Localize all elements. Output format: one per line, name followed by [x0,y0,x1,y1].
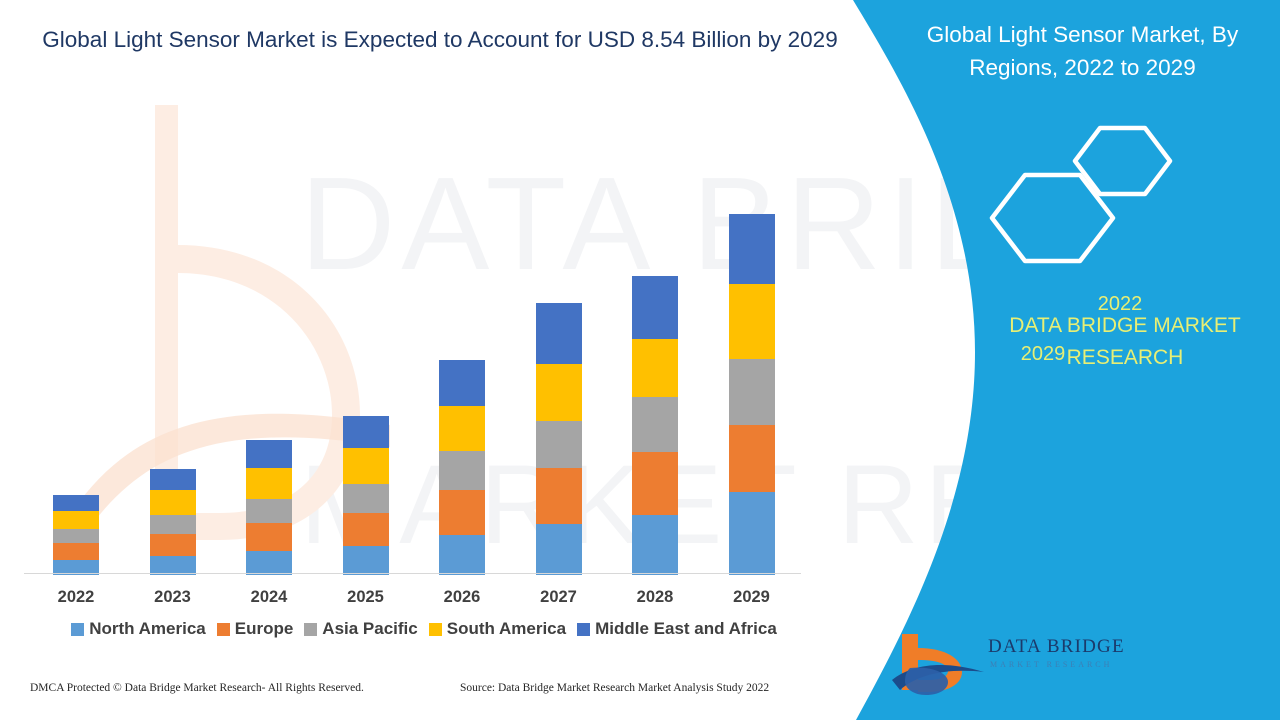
company-logo: DATA BRIDGE MARKET RESEARCH [888,628,1103,698]
x-axis-label-2022: 2022 [30,588,122,607]
bar-segment [632,339,678,397]
bar-column-2026[interactable] [439,360,485,575]
bar-segment [536,421,582,468]
chart-plot-area [24,120,814,575]
bar-column-2022[interactable] [53,495,99,575]
bar-segment [246,499,292,523]
legend-label: North America [89,619,206,639]
bar-column-2027[interactable] [536,303,582,575]
chart-baseline [24,573,801,574]
bar-segment [343,448,389,484]
bar-segment [439,451,485,490]
bar-segment [632,276,678,339]
legend-swatch-icon [429,623,442,636]
legend-item-middle-east-and-africa[interactable]: Middle East and Africa [577,619,777,639]
footer-source-text: Source: Data Bridge Market Research Mark… [460,682,769,694]
bar-segment [729,359,775,425]
bar-segment [729,492,775,575]
bar-segment [53,495,99,511]
bar-segment [729,214,775,284]
page-title: Global Light Sensor Market is Expected t… [30,24,850,56]
legend-swatch-icon [577,623,590,636]
bar-column-2023[interactable] [150,469,196,575]
legend-label: Middle East and Africa [595,619,777,639]
bar-segment [439,406,485,451]
footer-dmca-text: DMCA Protected © Data Bridge Market Rese… [30,682,364,694]
bar-segment [246,440,292,468]
x-axis-label-2023: 2023 [127,588,219,607]
databridge-b-icon [888,628,988,698]
bar-segment [343,546,389,575]
bar-segment [536,303,582,364]
x-axis-label-2028: 2028 [609,588,701,607]
legend-swatch-icon [217,623,230,636]
bar-segment [536,364,582,421]
brand-name: DATA BRIDGE MARKET RESEARCH [975,310,1275,374]
bar-segment [246,523,292,551]
x-axis-label-2025: 2025 [320,588,412,607]
legend-swatch-icon [71,623,84,636]
bar-segment [343,416,389,448]
bar-segment [439,490,485,535]
hexagon-group: 2022 2029 [980,125,1200,305]
bar-segment [53,543,99,560]
bar-segment [632,397,678,452]
legend-label: Europe [235,619,294,639]
bar-segment [246,468,292,499]
bar-column-2029[interactable] [729,214,775,575]
x-axis-label-2029: 2029 [706,588,798,607]
x-axis-label-2024: 2024 [223,588,315,607]
bar-segment [343,484,389,513]
legend-swatch-icon [304,623,317,636]
company-logo-subtext: MARKET RESEARCH [990,660,1120,669]
bar-segment [729,425,775,492]
bar-segment [632,452,678,515]
chart-x-axis: 20222023202420252026202720282029 [24,588,814,614]
legend-label: Asia Pacific [322,619,417,639]
bar-segment [343,513,389,546]
legend-item-north-america[interactable]: North America [71,619,206,639]
bar-column-2028[interactable] [632,276,678,575]
bar-segment [729,284,775,359]
x-axis-label-2026: 2026 [416,588,508,607]
footer: DMCA Protected © Data Bridge Market Rese… [0,682,860,706]
bar-column-2024[interactable] [246,440,292,575]
bar-segment [53,529,99,543]
bar-segment [632,515,678,575]
bar-segment [536,524,582,575]
bar-segment [150,469,196,490]
legend-item-asia-pacific[interactable]: Asia Pacific [304,619,417,639]
bar-column-2025[interactable] [343,416,389,575]
bar-segment [246,551,292,575]
x-axis-label-2027: 2027 [513,588,605,607]
legend-item-europe[interactable]: Europe [217,619,294,639]
bar-segment [53,511,99,529]
bar-segment [150,490,196,515]
legend-label: South America [447,619,566,639]
bar-segment [439,360,485,406]
chart-legend: North AmericaEuropeAsia PacificSouth Ame… [24,617,824,641]
bar-segment [150,515,196,534]
legend-item-south-america[interactable]: South America [429,619,566,639]
bar-segment [439,535,485,575]
company-logo-text: DATA BRIDGE [988,636,1108,658]
bar-segment [150,534,196,556]
bar-segment [536,468,582,524]
panel-title: Global Light Sensor Market, By Regions, … [900,18,1265,84]
